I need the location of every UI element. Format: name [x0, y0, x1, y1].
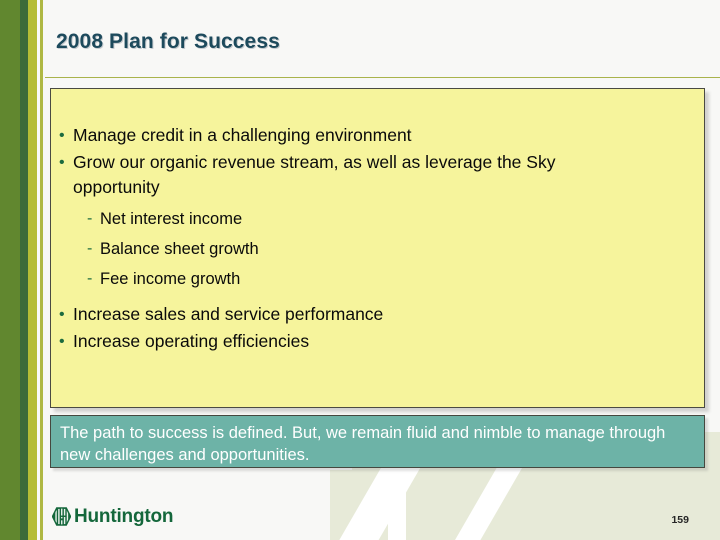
content-panel: • Manage credit in a challenging environ…	[50, 88, 705, 408]
page-number: 159	[671, 514, 689, 526]
left-stripe-yellow	[28, 0, 37, 540]
dash-marker-icon: -	[87, 237, 100, 261]
brand-logo: Huntington	[52, 505, 173, 527]
bullet-marker-icon: •	[59, 302, 73, 327]
left-stripe-edge	[43, 0, 45, 540]
slide-canvas: 2008 Plan for Success • Manage credit in…	[0, 0, 720, 540]
dash-marker-icon: -	[87, 207, 100, 231]
list-item-line-1: Grow our organic revenue stream, as well…	[73, 150, 644, 175]
page-title: 2008 Plan for Success	[56, 30, 280, 54]
list-item-line-2: opportunity	[73, 175, 644, 200]
watermark-vertical-stripe	[388, 468, 406, 540]
list-item: - Net interest income	[51, 207, 704, 231]
bullet-marker-icon: •	[59, 123, 73, 148]
watermark-shape-secondary	[330, 470, 390, 540]
list-item-label: Increase sales and service performance	[73, 302, 704, 327]
callout-box: The path to success is defined. But, we …	[50, 415, 705, 468]
list-item: • Increase sales and service performance	[51, 302, 704, 327]
bullet-marker-icon: •	[59, 150, 73, 175]
list-item: • Manage credit in a challenging environ…	[51, 123, 704, 148]
list-item-label: Manage credit in a challenging environme…	[73, 123, 704, 148]
list-item: - Balance sheet growth	[51, 237, 704, 261]
list-item-label: Balance sheet growth	[100, 237, 704, 261]
list-item-label: Fee income growth	[100, 267, 704, 291]
brand-wordmark: Huntington	[74, 507, 173, 526]
left-stripe-dark-green	[20, 0, 28, 540]
list-item-label: Increase operating efficiencies	[73, 329, 704, 354]
list-item-label: Grow our organic revenue stream, as well…	[73, 150, 704, 200]
bullet-list: • Manage credit in a challenging environ…	[51, 123, 704, 356]
title-divider-rule	[45, 77, 720, 78]
list-item: - Fee income growth	[51, 267, 704, 291]
list-item: • Grow our organic revenue stream, as we…	[51, 150, 704, 200]
list-item-label: Net interest income	[100, 207, 704, 231]
left-stripe-olive	[0, 0, 20, 540]
dash-marker-icon: -	[87, 267, 100, 291]
list-item: • Increase operating efficiencies	[51, 329, 704, 354]
huntington-hexagon-logo-icon	[52, 507, 71, 526]
callout-text: The path to success is defined. But, we …	[60, 422, 690, 466]
bullet-marker-icon: •	[59, 329, 73, 354]
